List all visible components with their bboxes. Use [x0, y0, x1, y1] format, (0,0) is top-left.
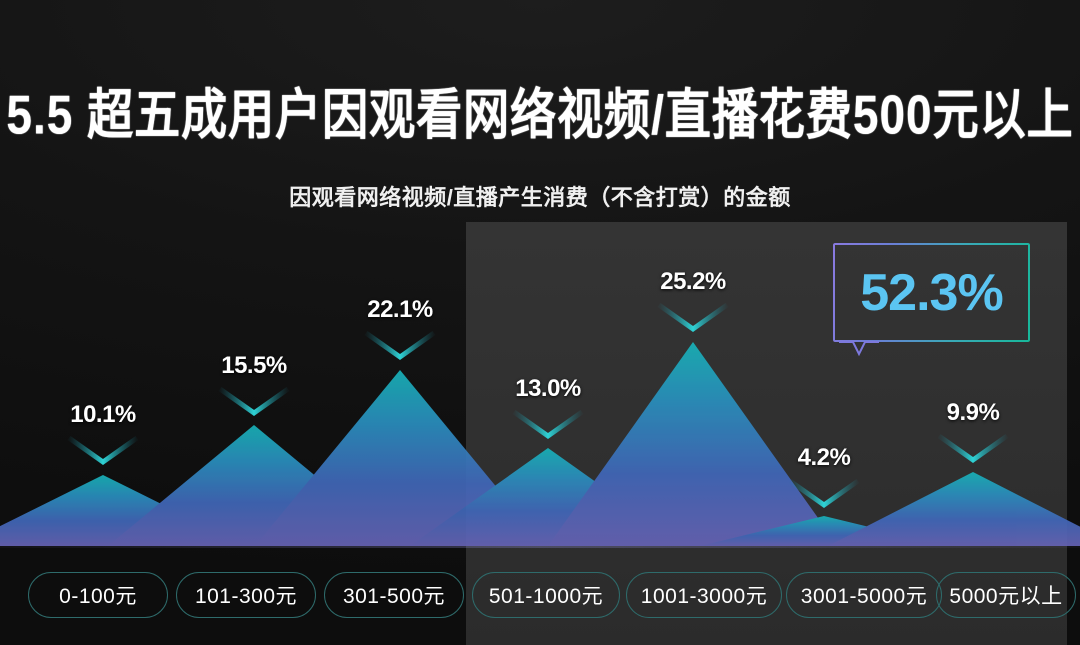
chart-baseline — [0, 546, 1080, 548]
value-label: 9.9% — [947, 399, 1000, 427]
category-pill[interactable]: 1001-3000元 — [626, 572, 782, 618]
chart-subtitle: 因观看网络视频/直播产生消费（不含打赏）的金额 — [0, 180, 1080, 212]
value-label: 15.5% — [221, 352, 287, 380]
category-pill[interactable]: 101-300元 — [176, 572, 316, 618]
chart-container: 10.1% 15.5% 22.1% 13.0% 25.2% 4.2% 9.9% … — [0, 222, 1080, 645]
value-label: 4.2% — [798, 444, 851, 472]
chart-stage: 5.5 超五成用户因观看网络视频/直播花费500元以上 因观看网络视频/直播产生… — [0, 0, 1080, 645]
peak-shape — [828, 472, 1080, 546]
category-pill[interactable]: 5000元以上 — [936, 572, 1076, 618]
value-label: 10.1% — [70, 401, 136, 429]
callout-tail-icon — [839, 340, 879, 358]
category-axis: 0-100元 101-300元 301-500元 501-1000元 1001-… — [0, 567, 1080, 627]
value-label: 13.0% — [515, 375, 581, 403]
value-label: 25.2% — [660, 268, 726, 296]
category-pill[interactable]: 301-500元 — [324, 572, 464, 618]
category-pill[interactable]: 501-1000元 — [472, 572, 620, 618]
summary-callout: 52.3% — [833, 243, 1030, 342]
value-label: 22.1% — [367, 296, 433, 324]
callout-value: 52.3% — [833, 243, 1030, 342]
page-title: 5.5 超五成用户因观看网络视频/直播花费500元以上 — [0, 72, 1080, 150]
category-pill[interactable]: 3001-5000元 — [786, 572, 942, 618]
peak-shape — [548, 342, 838, 546]
category-pill[interactable]: 0-100元 — [28, 572, 168, 618]
